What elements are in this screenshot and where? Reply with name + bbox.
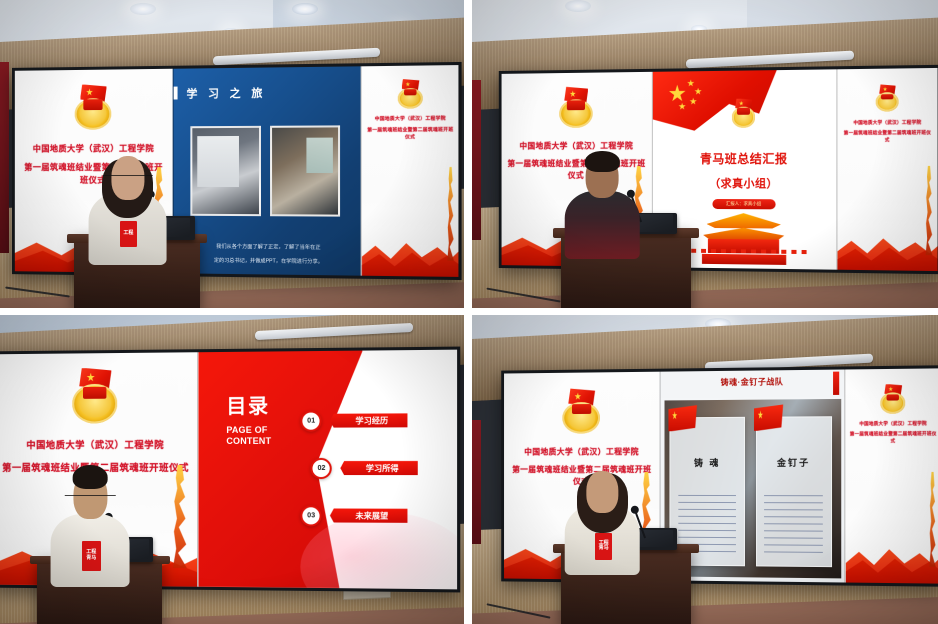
toc-title-en-line-2: CONTENT (226, 436, 271, 447)
speaker-glasses (102, 175, 152, 180)
shirt-logo: 工程 青马 (595, 533, 612, 560)
red-curtain (472, 80, 481, 240)
shirt-logo-text-line-2: 青马 (599, 546, 609, 551)
emblem-wrap (880, 383, 907, 413)
shirt-logo-text-line-2: 青马 (86, 556, 96, 561)
team-card-heading: 金钉子 (757, 456, 831, 469)
auditorium-scene: 中国地质大学（武汉）工程学院 第一届筑魂班结业暨第二届筑魂班开班仪式 目录 (0, 315, 464, 624)
flag-star-small-icon (694, 87, 701, 95)
tiananmen-illustration (701, 213, 785, 265)
emblem-tab (737, 108, 750, 115)
tiananmen-base (701, 254, 785, 265)
emblem-tab (403, 89, 416, 96)
emblem-tab (567, 100, 584, 109)
emblem-tab (83, 386, 106, 398)
speaker-hair (585, 151, 619, 172)
emblem-tab (887, 393, 900, 400)
slide-learning-journey: 学 习 之 旅 我们从各个方面了解了正定，了解了当年在正 定的习总书记，并做成P… (172, 66, 360, 276)
emblem-wrap (730, 98, 756, 127)
emblem-wrap (396, 79, 423, 109)
cover-subtitle: （求真小组） (652, 175, 836, 191)
speaker-torso (565, 191, 640, 259)
banner-line-2: 第一届筑魂班结业暨第二届筑魂班开班仪式 (841, 130, 933, 144)
toc-item-03: 03 未来展望 (301, 505, 408, 527)
red-mountains-decor (846, 535, 938, 583)
speaker-person: 工程 (88, 136, 167, 265)
banner-line-2: 第一届筑魂班结业暨第二届筑魂班开班仪式 (850, 431, 937, 445)
toc-label-02: 学习所得 (340, 461, 418, 475)
red-curtain (0, 62, 9, 253)
mini-flag-icon (754, 404, 784, 431)
shirt-logo: 工程 青马 (82, 541, 101, 571)
mini-flag-icon (668, 405, 697, 432)
photo-top-left: 中国地质大学（武汉）工程学院 第一届筑魂班结业暨第二届筑魂班开班仪式 学 习 之… (0, 0, 464, 308)
communist-youth-league-emblem (72, 84, 112, 130)
toc-title-cn: 目录 (226, 389, 271, 418)
slide-caption-line-1: 我们从各个方面了解了正定，了解了当年在正 (188, 242, 349, 252)
speaker-person: 工程 青马 (51, 451, 130, 587)
red-mountains-decor (837, 225, 937, 270)
speaker-person: 工程 青马 (565, 451, 640, 575)
china-national-flag (652, 70, 776, 154)
team-card-jindingzi: 金钉子 (756, 416, 832, 567)
toc-label-01: 学习经历 (330, 413, 408, 427)
emblem-wrap (561, 388, 602, 434)
emblem-wrap (557, 86, 593, 128)
emblem-tab (881, 93, 893, 99)
photo-bottom-left: 中国地质大学（武汉）工程学院 第一届筑魂班结业暨第二届筑魂班开班仪式 目录 (0, 315, 464, 624)
emblem-tab (83, 99, 102, 109)
communist-youth-league-emblem (874, 84, 899, 112)
team-card-body-lines (764, 494, 823, 554)
collage-gutter-horizontal (0, 308, 938, 315)
auditorium-scene: 中国地质大学（武汉）工程学院 第一届筑魂班结业暨第二届筑魂班开班仪式 (472, 0, 938, 308)
auditorium-scene: 中国地质大学（武汉）工程学院 第一届筑魂班结业暨第二届筑魂班开班仪式 学 习 之… (0, 0, 464, 308)
communist-youth-league-emblem (396, 79, 423, 109)
toc-item-01: 01 学习经历 (301, 410, 408, 432)
emblem-tab (572, 403, 591, 413)
toc-title-en-line-1: PAGE OF (226, 424, 271, 435)
emblem-wrap (71, 367, 120, 423)
banner-line-1: 中国地质大学（武汉）工程学院 (841, 119, 933, 126)
speaker-hair (73, 465, 108, 489)
communist-youth-league-emblem (557, 86, 593, 128)
photo-top-right: 中国地质大学（武汉）工程学院 第一届筑魂班结业暨第二届筑魂班开班仪式 (472, 0, 938, 308)
speaker-person (565, 142, 640, 259)
tiananmen-railing (681, 249, 806, 254)
auditorium-scene: 中国地质大学（武汉）工程学院 第一届筑魂班结业暨第二届筑魂班开班仪式 铸魂·金钉… (472, 315, 938, 624)
flag-mark-icon (833, 371, 839, 394)
slide-photo-2 (270, 125, 340, 217)
communist-youth-league-emblem (730, 98, 756, 127)
tiananmen-roof-upper (706, 213, 780, 229)
slide-caption-line-2: 定的习总书记，并做成PPT，在学院进行分享。 (188, 256, 349, 267)
cover-presenter-pill: 汇报人：求真小组 (712, 199, 775, 209)
toc-item-02: 02 学习所得 (311, 457, 418, 478)
red-mountains-decor (362, 230, 459, 277)
toc-number-01: 01 (301, 410, 322, 431)
team-card-heading: 铸 魂 (671, 456, 744, 469)
flag-star-small-icon (687, 79, 694, 87)
shirt-logo-text: 工程 (123, 231, 133, 236)
banner-panel-right: 中国地质大学（武汉）工程学院 第一届筑魂班结业暨第二届筑魂班开班仪式 (845, 368, 938, 583)
team-slide-title: 铸魂·金钉子战队 (661, 375, 845, 388)
emblem-wrap (72, 84, 112, 130)
slide-table-of-contents: 目录 PAGE OF CONTENT 01 学习经历 02 学习所得 (198, 350, 458, 590)
banner-line-1: 中国地质大学（武汉）工程学院 (850, 420, 937, 427)
recessed-downlight (130, 3, 156, 15)
banner-line-2: 第一届筑魂班结业暨第二届筑魂班开班仪式 (365, 127, 454, 141)
shirt-logo: 工程 (120, 221, 137, 247)
recessed-downlight (565, 0, 591, 12)
red-curtain (472, 420, 481, 544)
photo-collage: 中国地质大学（武汉）工程学院 第一届筑魂班结业暨第二届筑魂班开班仪式 学 习 之… (0, 0, 938, 624)
communist-youth-league-emblem (71, 367, 120, 423)
banner-line-1: 中国地质大学（武汉）工程学院 (365, 116, 454, 124)
flag-star-small-icon (689, 97, 696, 104)
toc-label-03: 未来展望 (330, 508, 408, 522)
flag-star-small-icon (678, 102, 685, 109)
toc-heading: 目录 PAGE OF CONTENT (226, 389, 271, 447)
speaker-glasses (65, 495, 115, 500)
communist-youth-league-emblem (561, 388, 602, 434)
toc-number-02: 02 (311, 458, 332, 479)
speaker-head (587, 471, 618, 513)
slide-photo-1 (190, 125, 261, 216)
cover-title: 青马班总结汇报 (652, 149, 836, 166)
communist-youth-league-emblem (880, 383, 907, 413)
photo-bottom-right: 中国地质大学（武汉）工程学院 第一届筑魂班结业暨第二届筑魂班开班仪式 铸魂·金钉… (472, 315, 938, 624)
emblem-wrap (874, 84, 899, 112)
flag-star-large-icon (668, 84, 685, 102)
banner-panel-right: 中国地质大学（武汉）工程学院 第一届筑魂班结业暨第二届筑魂班开班仪式 (361, 65, 459, 277)
banner-panel-right: 中国地质大学（武汉）工程学院 第一届筑魂班结业暨第二届筑魂班开班仪式 (836, 68, 937, 271)
toc-number-03: 03 (301, 505, 322, 526)
slide-title: 学 习 之 旅 (186, 84, 266, 101)
